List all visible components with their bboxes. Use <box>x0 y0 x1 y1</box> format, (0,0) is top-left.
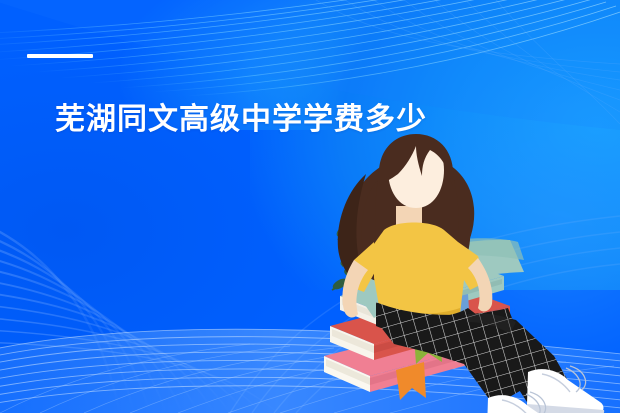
promo-banner: 芜湖同文高级中学学费多少 <box>0 0 620 413</box>
tshirt <box>374 223 464 320</box>
hero-illustration <box>318 130 620 413</box>
woman-sitting-on-books-graphic <box>318 130 620 413</box>
headline-accent-rule <box>27 54 93 58</box>
